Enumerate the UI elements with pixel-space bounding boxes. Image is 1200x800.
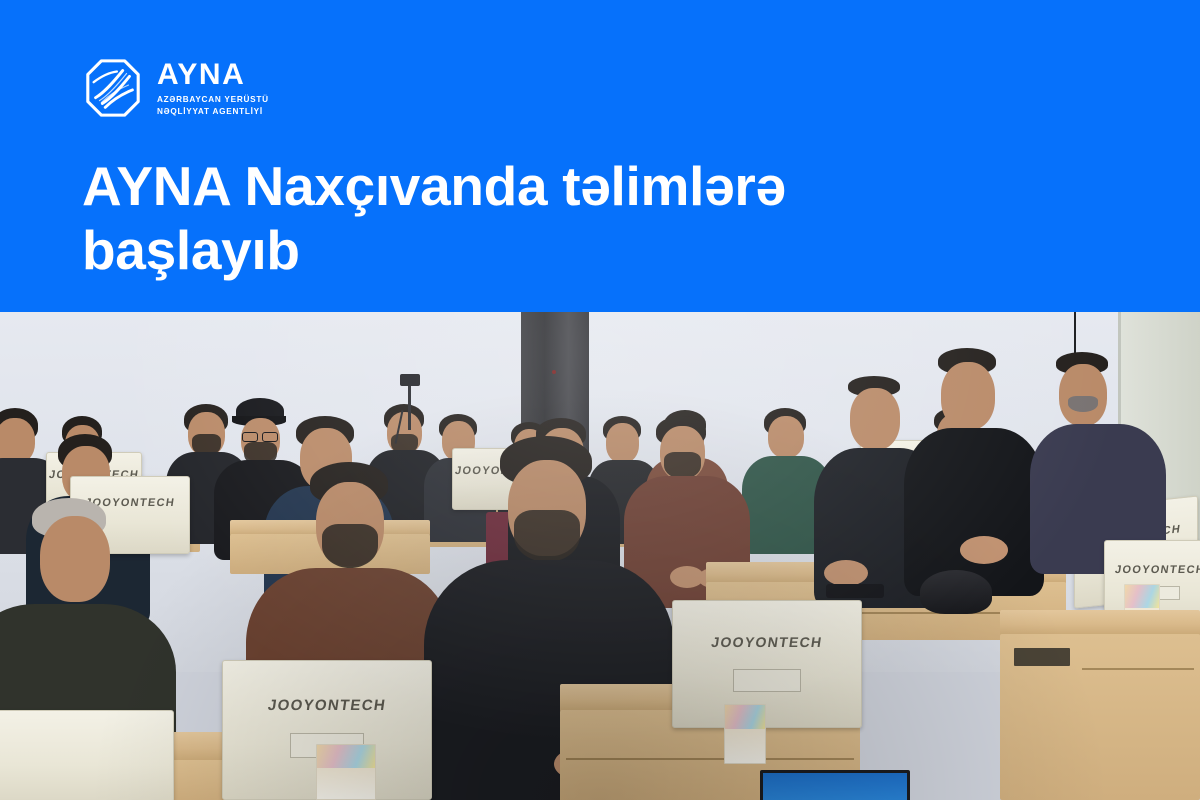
monitor-brand-label: JOOYONTECH — [222, 697, 432, 714]
leaflet — [316, 744, 376, 800]
leaflet-cover-art — [725, 705, 765, 729]
cabinet-seam — [1082, 668, 1194, 670]
page-title-line-2: başlayıb — [82, 218, 962, 282]
ayna-logo[interactable]: AYNA AZƏRBAYCAN YERÜSTÜ NƏQLİYYAT AGENTL… — [82, 55, 269, 121]
ayna-eight-pointed-star-logo — [82, 55, 144, 121]
desk — [1000, 610, 1200, 636]
glasses-left — [242, 432, 258, 442]
news-banner-page: AYNA AZƏRBAYCAN YERÜSTÜ NƏQLİYYAT AGENTL… — [0, 0, 1200, 800]
monitor: JOOYONTECH — [672, 600, 862, 728]
tripod-leg — [408, 386, 411, 430]
logo-wordmark: AYNA — [157, 60, 269, 90]
leaflet-cover-art — [317, 745, 375, 768]
leaflet — [724, 704, 766, 764]
leaflet-cover-art — [1125, 585, 1159, 608]
article-photo: JOOYONTECH JOOYONTECH JOOYONTECH — [0, 312, 1200, 800]
camera-head — [400, 374, 420, 386]
column-indicator-dot — [552, 370, 556, 374]
monitor-brand-label: JOOYONTECH — [1104, 564, 1200, 576]
flat-cap — [920, 570, 992, 614]
glasses-right — [262, 432, 278, 442]
monitor-brand-label: JOOYONTECH — [672, 634, 862, 650]
logo-subtitle: AZƏRBAYCAN YERÜSTÜ NƏQLİYYAT AGENTLİYİ — [157, 94, 269, 117]
page-title: AYNA Naxçıvanda təlimlərə başlayıb — [82, 154, 962, 283]
cabinet-opening — [1014, 648, 1070, 666]
presentation-screen: Xidmətlər — [760, 770, 910, 800]
page-title-line-1: AYNA Naxçıvanda təlimlərə — [82, 154, 962, 218]
monitor-sticker — [733, 669, 801, 692]
monitor — [0, 710, 174, 800]
header-banner: AYNA AZƏRBAYCAN YERÜSTÜ NƏQLİYYAT AGENTL… — [0, 0, 1200, 312]
classroom-scene: JOOYONTECH JOOYONTECH JOOYONTECH — [0, 312, 1200, 800]
logo-wordmark-block: AYNA AZƏRBAYCAN YERÜSTÜ NƏQLİYYAT AGENTL… — [157, 58, 269, 117]
desk-seam — [566, 758, 854, 760]
smartphone — [826, 584, 884, 598]
